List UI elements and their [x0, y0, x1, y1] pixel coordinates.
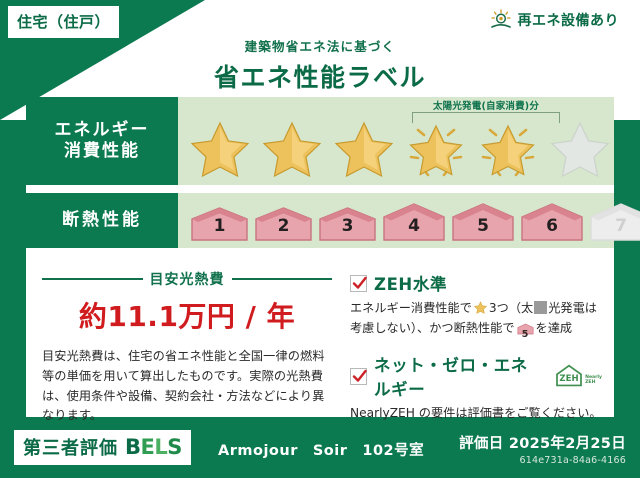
bels-letter-b: B: [125, 435, 141, 459]
zeh-house-logo-icon: ZEH: [554, 364, 584, 388]
zeh-standard-body: エネルギー消費性能で3つ（太光発電は考慮しない）、かつ断熱性能で5を達成: [350, 299, 602, 342]
net-zero-title: ネット・ゼロ・エネルギー: [374, 352, 544, 400]
utility-cost-value: 約11.1万円 / 年: [42, 295, 332, 335]
utility-cost-section: 目安光熱費 約11.1万円 / 年 目安光熱費は、住宅の省エネ性能と全国一律の燃…: [26, 257, 344, 417]
zeh-standard-block: ZEH水準 エネルギー消費性能で3つ（太光発電は考慮しない）、かつ断熱性能で5を…: [350, 271, 602, 342]
insulation-level-number: 3: [317, 216, 378, 236]
energy-performance-label: エネルギー 消費性能: [26, 97, 178, 185]
category-tag: 住宅（住戸）: [8, 6, 119, 38]
check-icon: [352, 276, 367, 291]
net-zero-energy-block: ネット・ゼロ・エネルギー ZEH Nearly ZEH: [350, 352, 602, 424]
check-icon: [352, 369, 367, 384]
insulation-performance-row: 断熱性能 1 2: [26, 193, 614, 248]
heading-rule-right: [232, 278, 333, 280]
zeh-standard-header: ZEH水準: [350, 271, 602, 295]
net-zero-checkbox: [350, 368, 367, 385]
star-gold-icon: [330, 117, 398, 181]
star-item: [186, 117, 254, 181]
insulation-level-item: 4: [381, 202, 447, 242]
zeh-body-text-4: を達成: [536, 321, 573, 335]
insulation-level-item-empty: 7: [588, 202, 640, 242]
star-empty-icon: [546, 117, 614, 181]
zeh-logo-text: ZEH: [559, 374, 578, 384]
star-gold-icon: [186, 117, 254, 181]
insulation-level-number: 6: [519, 216, 585, 236]
page-title: 省エネ性能ラベル: [0, 58, 640, 94]
zeh-section: ZEH水準 エネルギー消費性能で3つ（太光発電は考慮しない）、かつ断熱性能で5を…: [344, 257, 614, 417]
main-panel: エネルギー 消費性能 太陽光発電(自家消費)分: [26, 97, 614, 417]
bels-letter-e: E: [141, 435, 155, 459]
net-zero-body: NearlyZEH の要件は評価書をご覧ください。: [350, 404, 602, 424]
energy-performance-label: 住宅（住戸） 再エネ設備あり 建築物省エネ法に基づく 省エネ性能ラベル エネルギ…: [0, 0, 640, 478]
title-block: 建築物省エネ法に基づく 省エネ性能ラベル: [0, 36, 640, 94]
star-item-solar: [402, 117, 470, 181]
bels-letter-l: L: [154, 435, 167, 459]
star-item: [258, 117, 326, 181]
solar-contribution-caption: 太陽光発電(自家消費)分: [406, 98, 566, 112]
bracket-line: [412, 112, 560, 123]
evaluation-info: 評価日 2025年2月25日 614e731a-84a6-4166: [459, 432, 626, 466]
bels-logo: BELS: [125, 435, 182, 459]
energy-label-line1: エネルギー: [55, 120, 150, 141]
zeh-body-text-1: エネルギー消費性能で: [350, 301, 472, 315]
insulation-level-number: 5: [450, 216, 516, 236]
third-party-label: 第三者評価: [23, 434, 118, 460]
star-item: [330, 117, 398, 181]
redacted-character: [534, 301, 547, 314]
insulation-level-item: 2: [253, 206, 314, 242]
insulation-level-item: 6: [519, 202, 585, 242]
insulation-level-scale: 1 2 3: [189, 202, 640, 242]
utility-cost-heading: 目安光熱費: [42, 269, 332, 289]
bels-certification-tag: 第三者評価 BELS: [14, 430, 191, 465]
evaluation-id: 614e731a-84a6-4166: [459, 455, 626, 466]
insulation-level-number: 1: [189, 216, 250, 236]
star-gold-icon: [258, 117, 326, 181]
bels-letter-s: S: [167, 435, 182, 459]
zeh-body-text-2: 3つ（太: [489, 301, 533, 315]
renewable-badge-label: 再エネ設備あり: [518, 10, 620, 30]
zeh-logo-subtext: Nearly ZEH: [585, 376, 602, 388]
building-name: Armojour Soir 102号室: [218, 439, 424, 460]
evaluation-date: 評価日 2025年2月25日: [459, 432, 626, 453]
insulation-level-number: 2: [253, 216, 314, 236]
energy-star-rating: [186, 117, 614, 181]
insulation-performance-label: 断熱性能: [26, 193, 178, 248]
utility-cost-heading-text: 目安光熱費: [150, 269, 225, 289]
inline-house-badge: 5: [517, 322, 534, 343]
insulation-level-item: 3: [317, 206, 378, 242]
footer-bar: 第三者評価 BELS Armojour Soir 102号室 評価日 2025年…: [0, 422, 640, 478]
solar-sun-icon: [489, 9, 513, 31]
insulation-level-item: 5: [450, 202, 516, 242]
inline-house-number: 5: [517, 327, 534, 342]
utility-cost-note: 目安光熱費は、住宅の省エネ性能と全国一律の燃料等の単価を用いて算出したものです。…: [42, 347, 332, 426]
star-item-solar: [474, 117, 542, 181]
inline-star-icon: [473, 300, 488, 315]
insulation-level-item: 1: [189, 206, 250, 242]
lower-content: 目安光熱費 約11.1万円 / 年 目安光熱費は、住宅の省エネ性能と全国一律の燃…: [26, 257, 614, 417]
zeh-standard-checkbox: [350, 275, 367, 292]
energy-performance-row: エネルギー 消費性能 太陽光発電(自家消費)分: [26, 97, 614, 185]
insulation-level-number: 7: [588, 216, 640, 236]
zeh-standard-title: ZEH水準: [374, 271, 447, 295]
insulation-level-number: 4: [381, 216, 447, 236]
star-gold-solar-icon: [474, 117, 542, 181]
renewable-energy-badge: 再エネ設備あり: [483, 5, 630, 35]
zeh-logo-sub2: ZEH: [585, 380, 595, 385]
net-zero-header: ネット・ゼロ・エネルギー ZEH Nearly ZEH: [350, 352, 602, 400]
star-gold-solar-icon: [402, 117, 470, 181]
title-subtitle: 建築物省エネ法に基づく: [0, 36, 640, 55]
energy-label-line2: 消費性能: [64, 141, 140, 162]
star-item-empty: [546, 117, 614, 181]
heading-rule-left: [42, 278, 143, 280]
zeh-logo: ZEH Nearly ZEH: [554, 364, 602, 388]
